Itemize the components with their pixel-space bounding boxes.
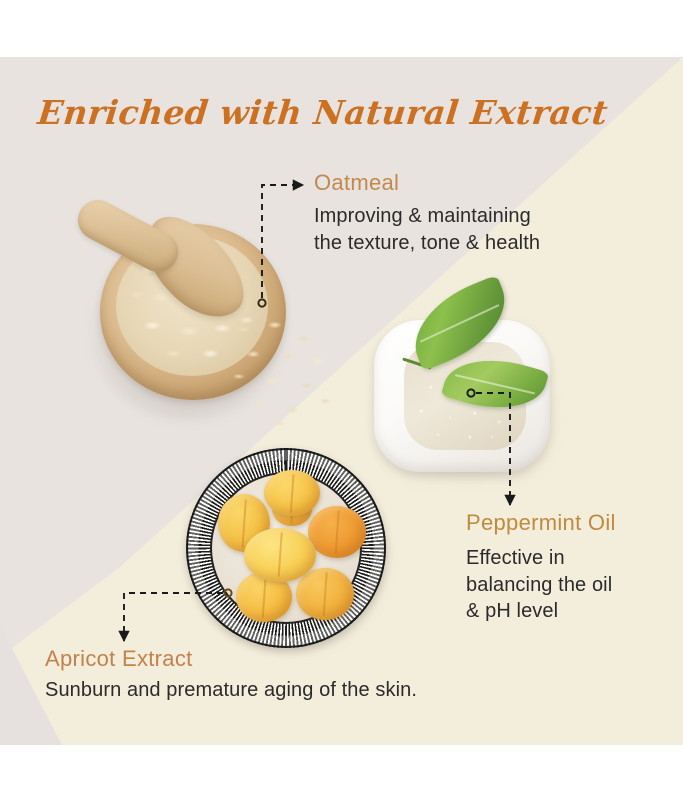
spilled-oats xyxy=(222,316,342,428)
page-title: Enriched with Natural Extract xyxy=(36,93,610,132)
oatmeal-description: Improving & maintaining the texture, ton… xyxy=(314,203,540,256)
apricot-photo xyxy=(186,448,392,654)
oatmeal-callout: Oatmeal Improving & maintaining the text… xyxy=(314,170,540,256)
peppermint-description-line: balancing the oil xyxy=(466,572,616,598)
apricot-fruit xyxy=(296,568,354,620)
apricot-fruit xyxy=(264,470,320,516)
peppermint-description: Effective in balancing the oil & pH leve… xyxy=(466,545,616,624)
apricot-heading: Apricot Extract xyxy=(45,646,417,671)
peppermint-description-line: Effective in xyxy=(466,545,616,571)
leaf-vein xyxy=(455,374,536,394)
pepper-photo xyxy=(362,300,592,500)
apricot-description: Sunburn and premature aging of the skin. xyxy=(45,677,417,703)
apricot-description-line: Sunburn and premature aging of the skin. xyxy=(45,677,417,703)
apricot-fruit xyxy=(308,506,366,558)
peppermint-callout: Peppermint Oil Effective in balancing th… xyxy=(466,510,616,624)
peppermint-description-line: & pH level xyxy=(466,598,616,624)
oatmeal-photo xyxy=(72,196,342,436)
apricot-fruit xyxy=(244,528,316,582)
peppermint-heading: Peppermint Oil xyxy=(466,510,616,535)
apricot-callout: Apricot Extract Sunburn and premature ag… xyxy=(45,646,417,704)
infographic-root: Enriched with Natural Extract xyxy=(0,0,683,800)
oatmeal-description-line: Improving & maintaining xyxy=(314,203,540,229)
oatmeal-description-line: the texture, tone & health xyxy=(314,230,540,256)
oatmeal-heading: Oatmeal xyxy=(314,170,540,195)
